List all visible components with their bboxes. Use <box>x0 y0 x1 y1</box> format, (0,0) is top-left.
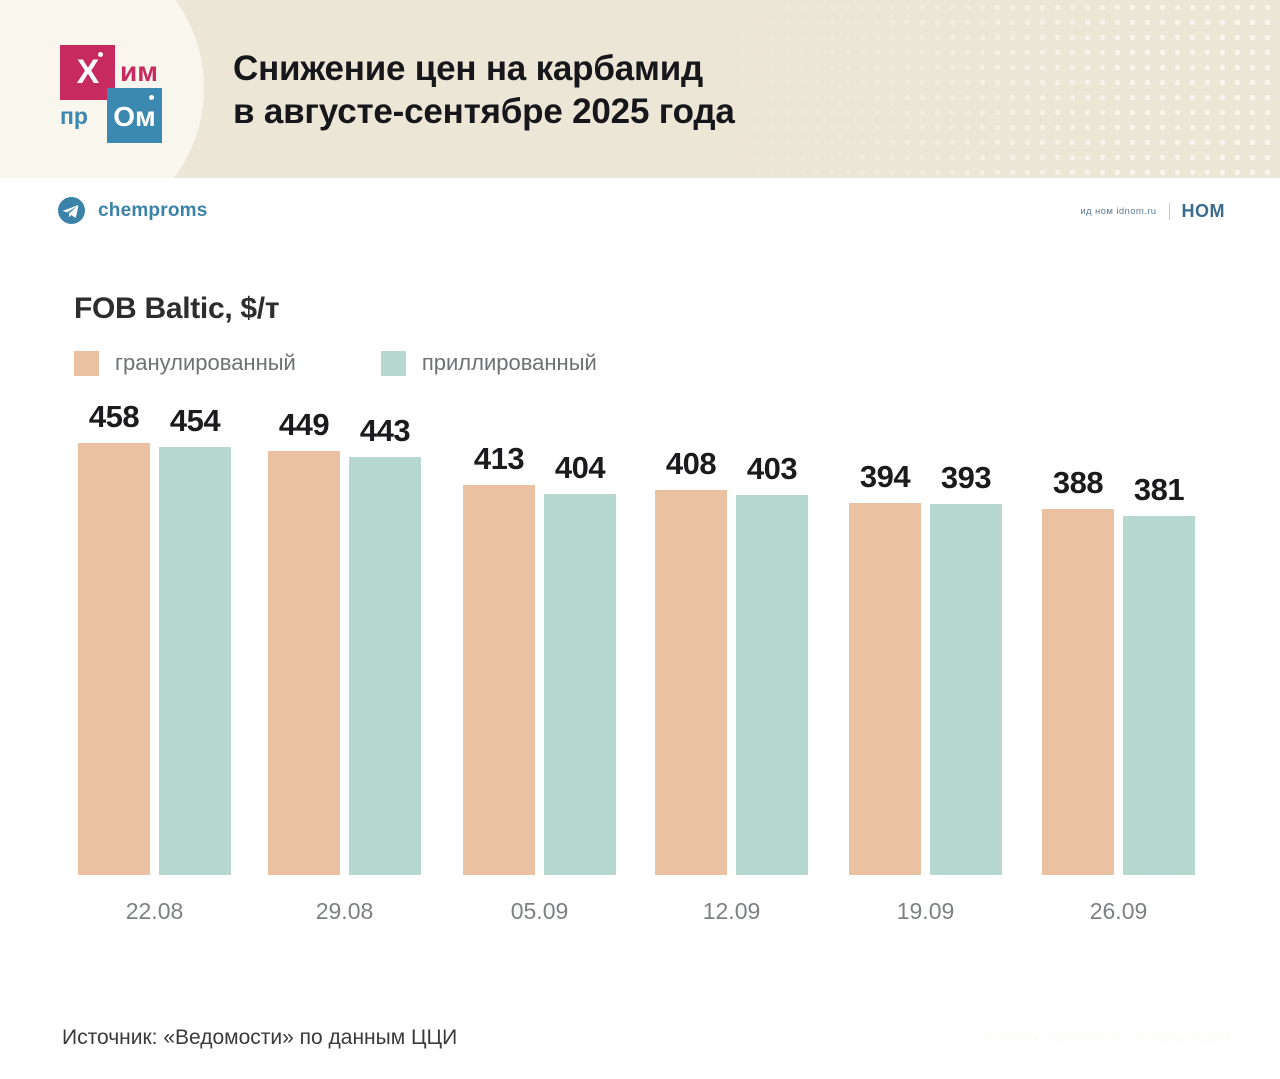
page-title: Снижение цен на карбамид в августе-сентя… <box>233 47 993 134</box>
bar-value-label: 443 <box>349 413 421 449</box>
bar-19-09-granulated[interactable] <box>849 503 921 875</box>
channel-bar: chemproms ид ном idnom.ru НОМ <box>0 178 1280 250</box>
bar-value-label: 393 <box>930 460 1002 496</box>
source-note: Источник: «Ведомости» по данным ЦЦИ <box>62 1026 457 1050</box>
bar-value-label: 454 <box>159 403 231 439</box>
telegram-channel-name: chemproms <box>98 200 208 222</box>
bar-value-label: 404 <box>544 450 616 486</box>
bar-value-label: 413 <box>463 441 535 477</box>
bar-12-09-granulated[interactable] <box>655 490 727 875</box>
bar-plot-area: 45845422.0844944329.0841340405.094084031… <box>0 250 1280 1010</box>
publisher-brand: ид ном idnom.ru НОМ <box>1080 201 1225 222</box>
bar-29-08-granulated[interactable] <box>268 451 340 875</box>
bar-value-label: 403 <box>736 451 808 487</box>
infographic-page: X им пр Ом Снижение цен на карбамид в ав… <box>0 0 1280 1079</box>
bar-22-08-granulated[interactable] <box>78 443 150 875</box>
telegram-channel-link[interactable]: chemproms <box>58 197 208 224</box>
bar-value-label: 408 <box>655 446 727 482</box>
bar-29-08-prilled[interactable] <box>349 457 421 875</box>
x-axis-label-26-09: 26.09 <box>1042 898 1195 925</box>
x-axis-label-22-08: 22.08 <box>78 898 231 925</box>
himprom-logo[interactable]: X им пр Ом <box>45 28 195 138</box>
source-watermark: Источник: «Ведомости» по данным ЦЦИ <box>983 1030 1230 1044</box>
x-axis-label-12-09: 12.09 <box>655 898 808 925</box>
bar-05-09-granulated[interactable] <box>463 485 535 875</box>
x-axis-label-19-09: 19.09 <box>849 898 1002 925</box>
bar-value-label: 449 <box>268 407 340 443</box>
bar-value-label: 458 <box>78 399 150 435</box>
bar-22-08-prilled[interactable] <box>159 447 231 875</box>
page-title-line-1: Снижение цен на карбамид <box>233 47 993 90</box>
bar-05-09-prilled[interactable] <box>544 494 616 875</box>
bar-26-09-prilled[interactable] <box>1123 516 1195 875</box>
logo-text-pr: пр <box>60 100 88 132</box>
bar-value-label: 381 <box>1123 472 1195 508</box>
logo-text-im: им <box>120 52 158 92</box>
telegram-icon <box>58 197 85 224</box>
bar-value-label: 388 <box>1042 465 1114 501</box>
bar-12-09-prilled[interactable] <box>736 495 808 875</box>
bar-value-label: 394 <box>849 459 921 495</box>
bar-19-09-prilled[interactable] <box>930 504 1002 875</box>
brand-divider <box>1169 203 1170 220</box>
logo-dot-upper <box>98 52 103 57</box>
chart-container: FOB Baltic, $/т гранулированный приллиро… <box>0 250 1280 1010</box>
x-axis-label-29-08: 29.08 <box>268 898 421 925</box>
x-axis-label-05-09: 05.09 <box>463 898 616 925</box>
publisher-logo-text: НОМ <box>1182 201 1226 222</box>
logo-dot-lower <box>149 95 154 100</box>
publisher-url: ид ном idnom.ru <box>1080 206 1156 217</box>
bar-26-09-granulated[interactable] <box>1042 509 1114 875</box>
header-banner: X им пр Ом Снижение цен на карбамид в ав… <box>0 0 1280 178</box>
page-title-line-2: в августе-сентябре 2025 года <box>233 90 993 133</box>
